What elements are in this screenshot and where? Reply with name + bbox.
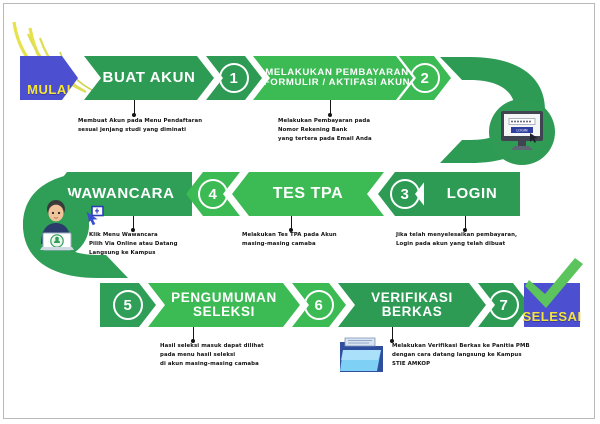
monitor-icon-svg: LOGIN — [496, 109, 548, 155]
student-laptop-icon — [23, 192, 89, 258]
step-5-caption: Klik Menu Wawancara Pilih Via Online ata… — [89, 231, 259, 257]
step-4-title: TES TPA — [273, 186, 344, 203]
folder-documents-icon — [337, 334, 387, 378]
step-3-caption: Jika telah menyelesaikan pembayaran, Log… — [396, 231, 596, 249]
step-1-number: 1 — [230, 71, 239, 86]
check-mark-icon — [519, 256, 587, 312]
svg-text:LOGIN: LOGIN — [516, 129, 528, 133]
step-2-bar[interactable]: MELAKUKAN PEMBAYARAN FORMULIR / AKTIFASI… — [253, 56, 413, 100]
step-7-bar[interactable]: VERIFIKASI BERKAS — [338, 283, 486, 327]
step-6-title: PENGUMUMAN SELEKSI — [171, 291, 277, 319]
step-7-number: 7 — [500, 298, 509, 313]
student-icon-svg — [23, 192, 89, 258]
flowchart-canvas: MULAI BUAT AKUN 1 MELAKUKAN PEMBAYARAN F… — [0, 0, 600, 424]
step-3-title: LOGIN — [447, 186, 498, 202]
step-5-number-circle: 5 — [113, 290, 143, 320]
monitor-login-icon: LOGIN — [489, 99, 555, 165]
step-2-number: 2 — [421, 71, 430, 86]
step-7-title: VERIFIKASI BERKAS — [371, 291, 453, 319]
step-5-number: 5 — [124, 298, 133, 313]
step-4-bar[interactable]: TES TPA — [232, 172, 384, 216]
step-3-number: 3 — [401, 187, 410, 202]
step-6-bar[interactable]: PENGUMUMAN SELEKSI — [148, 283, 300, 327]
step-7-caption: Melakukan Verifikasi Berkas ke Panitia P… — [392, 342, 600, 368]
step-1-title: BUAT AKUN — [103, 70, 196, 86]
step-1-caption: Membuat Akun pada Menu Pendaftaran sesua… — [78, 117, 268, 135]
step-2-title: MELAKUKAN PEMBAYARAN FORMULIR / AKTIFASI… — [264, 68, 410, 88]
step-5-title: WAWANCARA — [67, 186, 174, 202]
step-6-number: 6 — [315, 298, 324, 313]
step-6-caption: Hasil seleksi masuk dapat dilihat pada m… — [160, 342, 350, 368]
step-3-bar[interactable]: LOGIN — [424, 172, 520, 216]
step-4-number: 4 — [209, 187, 218, 202]
step-4-caption: Melakukan Tes TPA pada Akun masing-masin… — [242, 231, 422, 249]
step-2-caption: Melakukan Pembayaran pada Nomor Rekening… — [278, 117, 468, 143]
step-1-bar[interactable]: BUAT AKUN — [84, 56, 214, 100]
step-1-number-circle: 1 — [219, 63, 249, 93]
